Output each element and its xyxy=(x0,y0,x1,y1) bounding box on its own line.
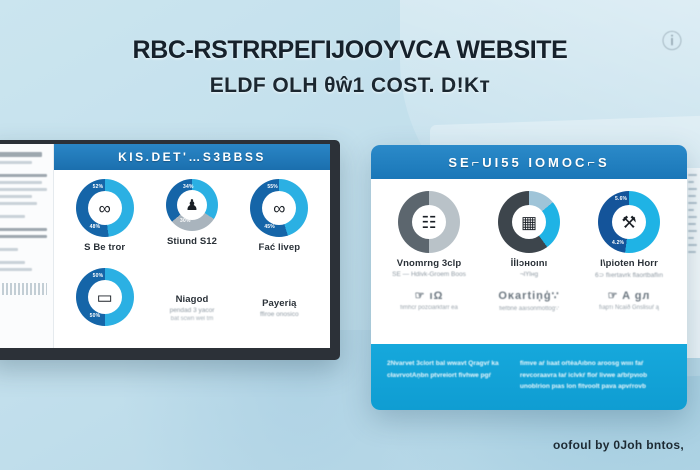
page-title: RBC-RSTRRPEΓIJOOYVCA WEBSITE ELDF OLH θŵ… xyxy=(0,36,700,98)
donut-label: 5.6% xyxy=(615,196,627,202)
sidebar-skeleton-line xyxy=(0,161,32,164)
metric-card-title: Stiund S12 xyxy=(167,236,217,247)
sidebar-skeleton-line xyxy=(0,202,37,205)
right-panel-header: SE⌐UI55 IOMOC⌐S xyxy=(371,145,687,179)
person-profile-icon: ♟ xyxy=(185,198,198,213)
security-panel: SE⌐UI55 IOMOC⌐S ☷ Vnomrng 3clp SE — Hdiv… xyxy=(371,145,687,410)
donut-hole: ∞ xyxy=(262,191,296,225)
donut-chart: ▦ xyxy=(498,191,560,253)
metric-card[interactable]: ☷ Vnomrng 3clp SE — Hdivk-Groem Boos xyxy=(381,191,477,279)
sidebar-skeleton-line xyxy=(0,152,42,157)
footer-text: 2Nvarvet 3clort bal wwavt Qragvŕ ka cłav… xyxy=(387,358,508,381)
edge-list-line xyxy=(688,188,697,190)
footer-column: 2Nvarvet 3clort bal wwavt Qragvŕ ka cłav… xyxy=(387,358,508,396)
headline-line-2: ELDF OLH θŵ1 COST. D!Kт xyxy=(0,74,700,98)
sidebar-skeleton-line xyxy=(0,174,47,177)
headline-line-1: RBC-RSTRRPEΓIJOOYVCA WEBSITE xyxy=(0,36,700,65)
donut-hole: ☷ xyxy=(412,205,446,239)
donut-hole: ▦ xyxy=(512,205,546,239)
sidebar-skeleton-line xyxy=(0,248,18,251)
letter-a-icon: ☞ A ɡл xyxy=(608,289,651,302)
donut-label: 55% xyxy=(267,184,278,190)
metric-card-title: Payerią xyxy=(262,298,297,309)
edge-list-line xyxy=(688,223,696,225)
mini-item[interactable]: ☞ ıΩ fimhcr pozciarkfarr ea xyxy=(381,289,477,312)
donut-hole: ∞ xyxy=(88,191,122,225)
right-mini-row: ☞ ıΩ fimhcr pozciarkfarr ea Oĸartiņģ∵ fi… xyxy=(381,289,677,312)
footer-column: fimve aŕ lıaat oŕtėaAıbno aroosg wıııı f… xyxy=(520,358,671,396)
metric-card-title: Vnomrng 3clp xyxy=(397,258,462,269)
metric-card-title: İİlɔноını xyxy=(511,258,548,269)
metric-card[interactable]: 5.6% 4.2% ⚒ I\pioten Horr 6⊃ flıertavrk … xyxy=(581,191,677,279)
donut-chart: ☷ xyxy=(398,191,460,253)
donut-label: 48% xyxy=(90,224,101,230)
metric-card-subtitle-2: bat scwn wel tm xyxy=(171,316,214,322)
sidebar-skeleton-line xyxy=(0,268,32,271)
camera-device-icon: ☷ xyxy=(421,214,436,231)
edge-list-line xyxy=(688,237,694,239)
chart-line-icon: Oĸartiņģ∵ xyxy=(498,289,559,302)
metric-card[interactable]: 34% 30% ♟ Stiund S12 xyxy=(151,179,232,264)
right-card-row: ☷ Vnomrng 3clp SE — Hdivk-Groem Boos ▦ İ… xyxy=(381,191,677,279)
chain-link-icon: ∞ xyxy=(99,200,111,217)
metric-card-title: S Be tror xyxy=(84,242,125,253)
mini-item[interactable]: ☞ A ɡл fıaртı Ncaið Gnslisuŕ ą xyxy=(581,289,677,312)
edge-list-line xyxy=(688,202,697,204)
edge-list-line xyxy=(688,181,694,183)
donut-chart: 50% 50% ▭ xyxy=(76,268,134,326)
sidebar-skeleton-block xyxy=(0,283,47,295)
metric-card-subtitle: pendad 3 yacor xyxy=(170,307,215,314)
edge-list-line xyxy=(688,174,697,176)
edge-list-line xyxy=(688,230,697,232)
metric-card-subtitle: ffiroe onosico xyxy=(260,311,299,318)
donut-label: 45% xyxy=(264,224,275,230)
chain-link-icon: ∞ xyxy=(273,200,285,217)
sidebar-skeleton-line xyxy=(0,215,25,218)
donut-hole: ♟ xyxy=(177,190,207,220)
donut-label: 52% xyxy=(93,184,104,190)
logo-mark-icon: ⓘ xyxy=(656,26,688,52)
edge-list-line xyxy=(688,244,697,246)
metric-card-subtitle: ¬ІҮІнg xyxy=(520,271,538,278)
desktop-monitor: KIS.DET'…S3BBSS 52% 48% ∞ S Be tror xyxy=(0,140,340,360)
hand-pointer-icon: ☞ ıΩ xyxy=(415,289,444,302)
sidebar-skeleton-line xyxy=(0,181,42,184)
mini-item-caption: fiefbné āāısonmottog∵ xyxy=(499,305,559,312)
donut-hole: ⚒ xyxy=(612,205,646,239)
donut-label: 50% xyxy=(93,273,104,279)
donut-chart: 34% 30% ♟ xyxy=(166,179,218,231)
donut-chart: 5.6% 4.2% ⚒ xyxy=(598,191,660,253)
sidebar-skeleton-line xyxy=(0,195,32,198)
metric-card-title: Niagod xyxy=(176,294,209,305)
document-main: KIS.DET'…S3BBSS 52% 48% ∞ S Be tror xyxy=(54,144,330,348)
left-card-grid: 52% 48% ∞ S Be tror 34% 30% ♟ xyxy=(54,170,330,348)
calculator-icon: ▦ xyxy=(521,214,537,231)
footer-text: fimve aŕ lıaat oŕtėaAıbno aroosg wıııı f… xyxy=(520,358,671,393)
metric-card[interactable]: 52% 48% ∞ S Be tror xyxy=(64,179,145,264)
donut-label: 4.2% xyxy=(612,240,624,246)
edge-list-line xyxy=(688,216,697,218)
left-panel-title: KIS.DET'…S3BBSS xyxy=(118,150,266,164)
browser-window-icon: ▭ xyxy=(97,289,113,306)
footer-caption: oofoul by 0Joh bntos, xyxy=(553,438,684,452)
metric-card-subtitle: SE — Hdivk-Groem Boos xyxy=(392,271,466,278)
right-panel-title: SE⌐UI55 IOMOC⌐S xyxy=(448,155,609,170)
edge-list-line xyxy=(688,195,696,197)
metric-card-title: I\pioten Horr xyxy=(600,258,658,269)
mini-item-caption: fıaртı Ncaið Gnslisuŕ ą xyxy=(599,305,659,311)
wrench-settings-icon: ⚒ xyxy=(621,214,636,231)
sidebar-skeleton-line xyxy=(0,235,47,238)
metric-card[interactable]: Payerią ffiroe onosico xyxy=(239,268,320,342)
monitor-screen: KIS.DET'…S3BBSS 52% 48% ∞ S Be tror xyxy=(0,144,330,348)
right-panel-body: ☷ Vnomrng 3clp SE — Hdivk-Groem Boos ▦ İ… xyxy=(371,179,687,344)
metric-card[interactable]: 55% 45% ∞ Fać livep xyxy=(239,179,320,264)
donut-hole: ▭ xyxy=(88,280,122,314)
document-sidebar[interactable] xyxy=(0,144,54,348)
mini-item[interactable]: Oĸartiņģ∵ fiefbné āāısonmottog∵ xyxy=(481,289,577,312)
sidebar-skeleton-line xyxy=(0,261,25,264)
donut-chart: 52% 48% ∞ xyxy=(76,179,134,237)
donut-label: 50% xyxy=(90,313,101,319)
mini-item-caption: fimhcr pozciarkfarr ea xyxy=(400,305,458,311)
metric-card-title: Fać livep xyxy=(259,242,301,253)
metric-card[interactable]: 50% 50% ▭ xyxy=(64,268,145,342)
metric-card-subtitle: 6⊃ flıertavrk flaortbaflın xyxy=(595,271,663,279)
edge-list-line xyxy=(688,251,696,253)
metric-card[interactable]: ▦ İİlɔноını ¬ІҮІнg xyxy=(481,191,577,279)
edge-list-line xyxy=(688,209,694,211)
sidebar-skeleton-line xyxy=(0,188,47,191)
donut-chart: 55% 45% ∞ xyxy=(250,179,308,237)
left-panel-header: KIS.DET'…S3BBSS xyxy=(54,144,330,170)
right-panel-footer: 2Nvarvet 3clort bal wwavt Qragvŕ ka cłav… xyxy=(371,344,687,410)
sidebar-skeleton-line xyxy=(0,228,47,231)
metric-card[interactable]: Niagod pendad 3 yacor bat scwn wel tm xyxy=(151,268,232,342)
